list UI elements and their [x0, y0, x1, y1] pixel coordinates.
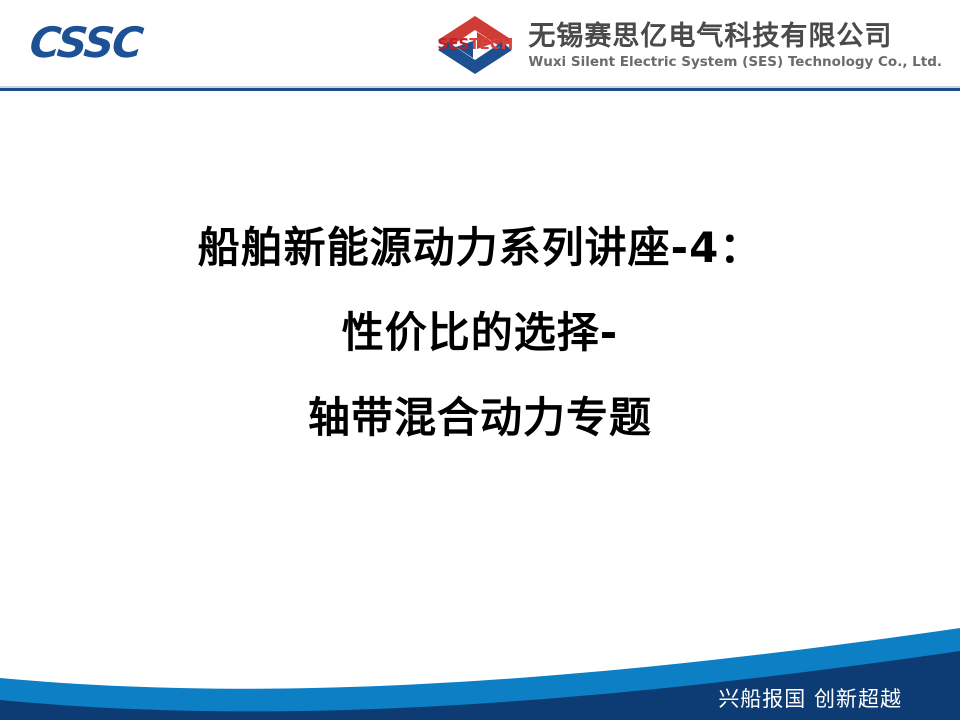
ses-text: SES — [437, 35, 469, 53]
cssc-logo: CSSC — [30, 19, 220, 67]
sestech-wordmark: SESTECH — [432, 36, 518, 53]
header-divider — [0, 88, 960, 91]
company-name-block: 无锡赛思亿电气科技有限公司 Wuxi Silent Electric Syste… — [528, 21, 942, 70]
presentation-slide: CSSC SESTECH 无锡赛思亿电气科技有限 — [0, 0, 960, 720]
tech-text: TECH — [469, 35, 513, 53]
title-line-2: 性价比的选择- — [0, 307, 960, 359]
title-line-3: 轴带混合动力专题 — [0, 392, 960, 444]
footer-slogan: 兴船报国 创新超越 — [718, 686, 902, 712]
sestech-emblem-icon: SESTECH — [432, 10, 518, 80]
title-line-1: 船舶新能源动力系列讲座-4： — [0, 222, 960, 274]
company-name-en: Wuxi Silent Electric System (SES) Techno… — [528, 54, 942, 70]
cssc-logo-icon: CSSC — [27, 19, 222, 67]
company-name-cn: 无锡赛思亿电气科技有限公司 — [528, 21, 942, 52]
slide-title: 船舶新能源动力系列讲座-4： 性价比的选择- 轴带混合动力专题 — [0, 222, 960, 444]
slide-header: CSSC SESTECH 无锡赛思亿电气科技有限 — [0, 0, 960, 88]
sestech-logo: SESTECH 无锡赛思亿电气科技有限公司 Wuxi Silent Electr… — [432, 10, 942, 80]
